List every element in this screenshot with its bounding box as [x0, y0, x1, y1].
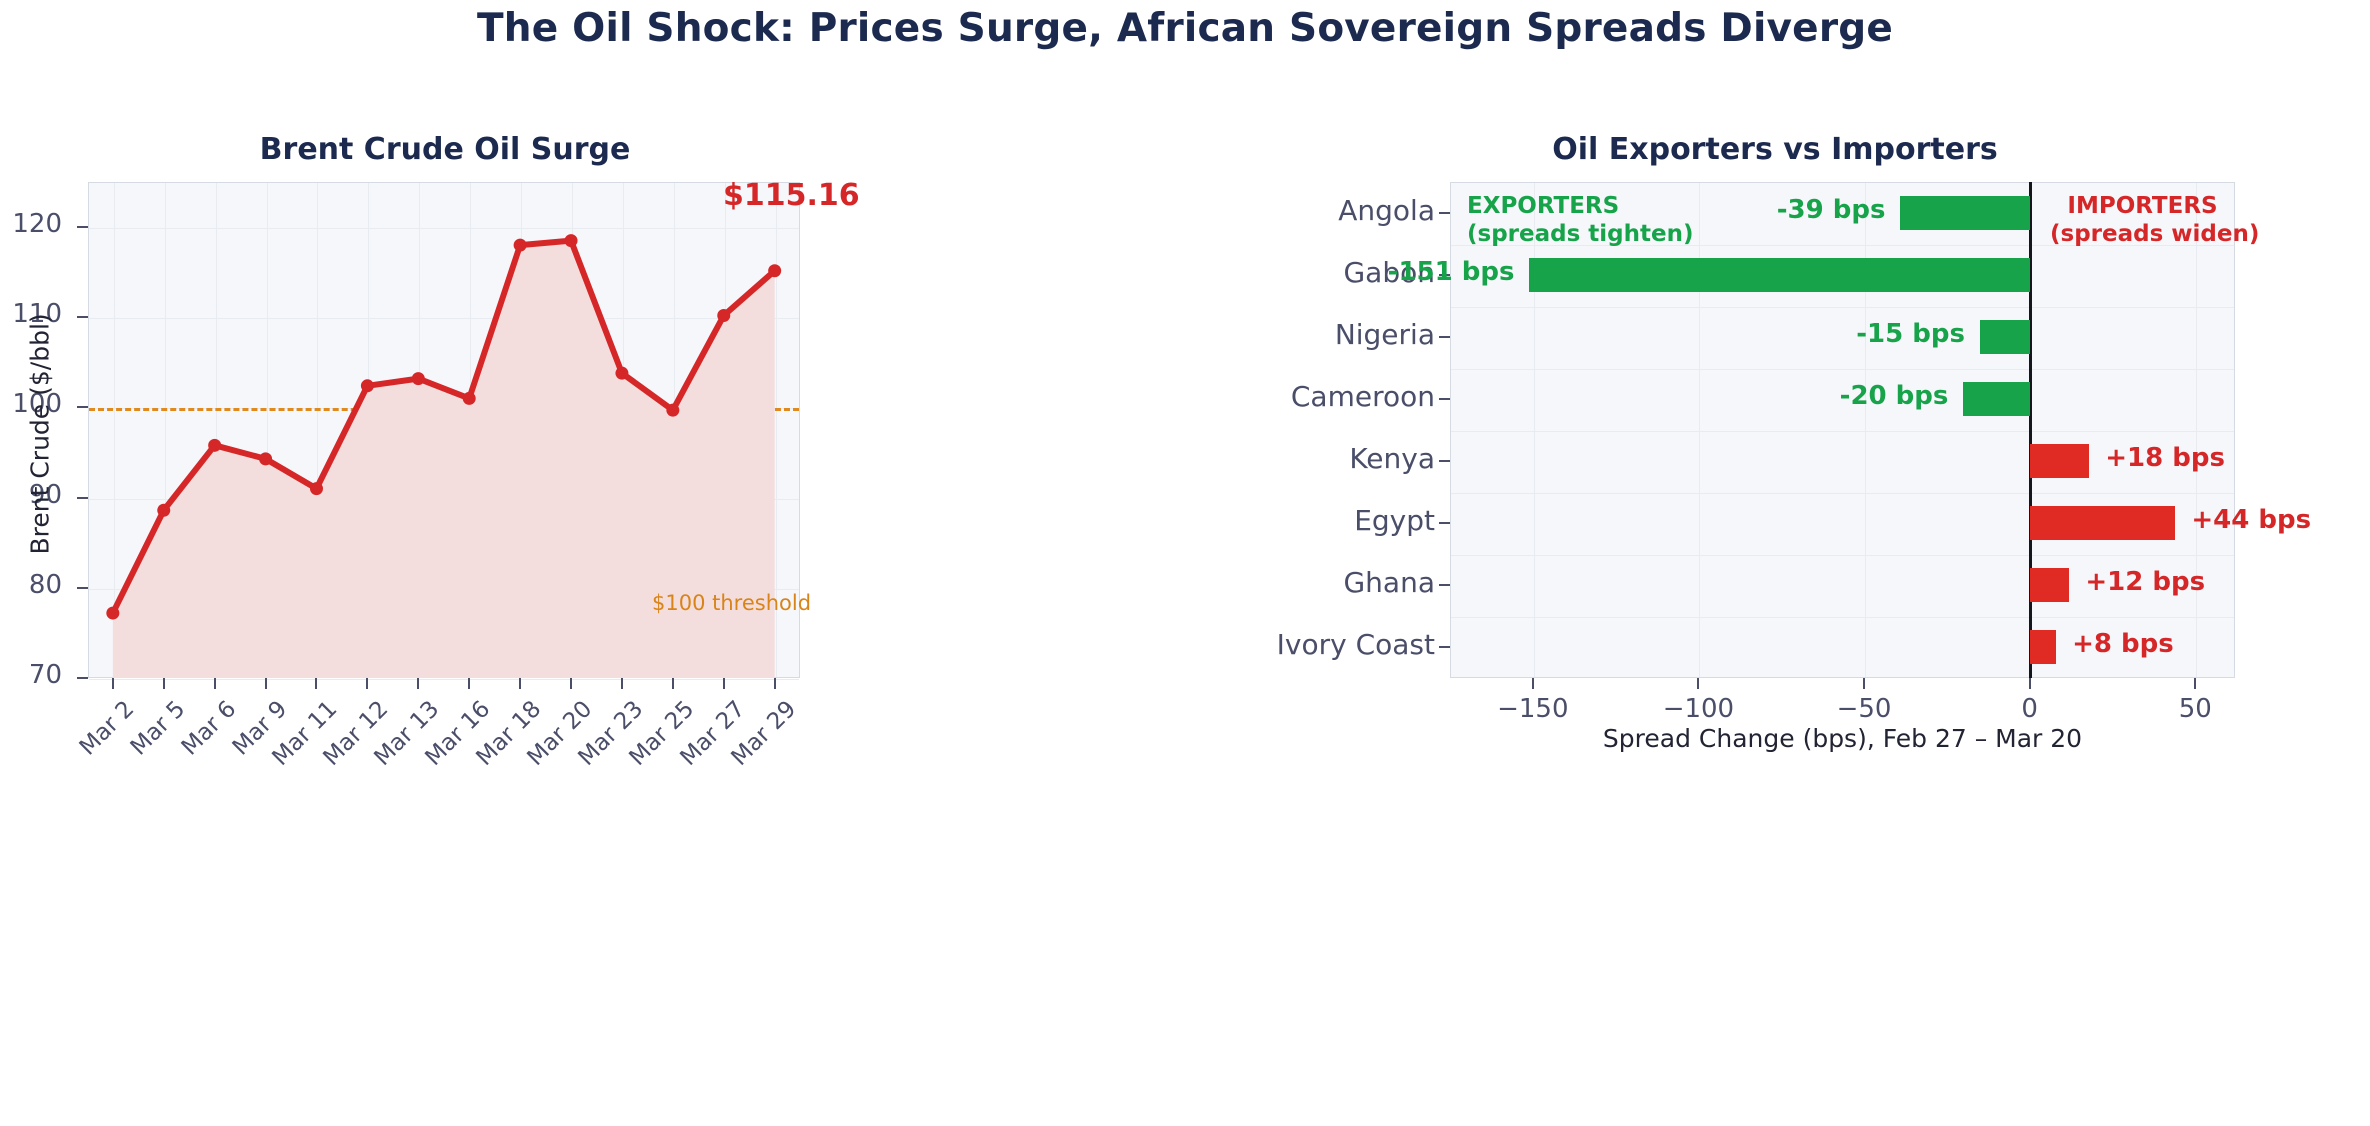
left-x-tick-mark	[265, 678, 267, 689]
left-y-tick-label: 120	[0, 209, 62, 239]
spread-value-label: -15 bps	[1750, 319, 1965, 349]
left-x-tick-mark	[672, 678, 674, 689]
left-gridline	[89, 679, 799, 680]
right-y-tick-mark	[1439, 584, 1450, 586]
exporters-annotation-line1: EXPORTERS	[1467, 192, 1694, 220]
importers-annotation-line2: (spreads widen)	[2050, 220, 2235, 248]
right-plot-area	[1450, 182, 2235, 678]
brent-data-point	[412, 372, 425, 385]
spread-value-label: +12 bps	[2085, 567, 2205, 597]
left-chart-title: Brent Crude Oil Surge	[90, 132, 800, 167]
left-x-tick-mark	[315, 678, 317, 689]
left-y-tick-mark	[77, 316, 88, 318]
brent-data-point	[666, 404, 679, 417]
country-label: Ghana	[1160, 566, 1435, 599]
spread-value-label: -20 bps	[1733, 381, 1948, 411]
left-y-tick-mark	[77, 677, 88, 679]
right-gridline-horizontal	[1451, 555, 2234, 556]
left-x-tick-mark	[214, 678, 216, 689]
left-x-tick-mark	[163, 678, 165, 689]
right-x-tick-label: 50	[2125, 694, 2265, 724]
brent-data-point	[259, 452, 272, 465]
spread-bar[interactable]	[2030, 630, 2056, 665]
spread-value-label: +44 bps	[2191, 505, 2311, 535]
spread-bar[interactable]	[2030, 506, 2176, 541]
country-label: Nigeria	[1160, 318, 1435, 351]
left-x-tick-mark	[621, 678, 623, 689]
right-y-tick-mark	[1439, 336, 1450, 338]
country-label: Egypt	[1160, 504, 1435, 537]
country-label: Cameroon	[1160, 380, 1435, 413]
spread-value-label: -151 bps	[1299, 257, 1514, 287]
spread-bar[interactable]	[2030, 568, 2070, 603]
brent-data-point	[106, 607, 119, 620]
country-label: Ivory Coast	[1160, 628, 1435, 661]
brent-data-point	[768, 264, 781, 277]
spread-bar[interactable]	[1900, 196, 2029, 231]
left-y-tick-mark	[77, 497, 88, 499]
left-y-tick-label: 80	[0, 570, 62, 600]
right-chart-title: Oil Exporters vs Importers	[1325, 132, 2225, 167]
right-gridline-horizontal	[1451, 431, 2234, 432]
right-x-tick-label: −50	[1794, 694, 1934, 724]
right-y-tick-mark	[1439, 212, 1450, 214]
left-y-tick-mark	[77, 587, 88, 589]
figure-canvas: The Oil Shock: Prices Surge, African Sov…	[0, 0, 2370, 1126]
right-y-tick-mark	[1439, 646, 1450, 648]
right-x-tick-mark	[2029, 678, 2031, 689]
spread-bar[interactable]	[1963, 382, 2029, 417]
spread-bar[interactable]	[1980, 320, 2030, 355]
brent-data-point	[310, 482, 323, 495]
importers-annotation: IMPORTERS (spreads widen)	[2050, 192, 2235, 248]
brent-data-point	[463, 392, 476, 405]
right-y-tick-mark	[1439, 398, 1450, 400]
importers-annotation-line1: IMPORTERS	[2050, 192, 2235, 220]
brent-data-point	[717, 309, 730, 322]
right-x-tick-label: −150	[1463, 694, 1603, 724]
spread-value-label: -39 bps	[1670, 195, 1885, 225]
right-y-tick-mark	[1439, 522, 1450, 524]
right-gridline-horizontal	[1451, 617, 2234, 618]
right-y-tick-mark	[1439, 460, 1450, 462]
left-x-tick-mark	[417, 678, 419, 689]
left-y-tick-label: 70	[0, 660, 62, 690]
right-x-tick-mark	[1532, 678, 1534, 689]
spread-bar[interactable]	[2030, 444, 2090, 479]
brent-data-point	[361, 379, 374, 392]
right-x-axis-label: Spread Change (bps), Feb 27 – Mar 20	[1450, 724, 2235, 753]
right-x-tick-mark	[1697, 678, 1699, 689]
brent-data-point	[208, 439, 221, 452]
exporters-annotation: EXPORTERS (spreads tighten)	[1467, 192, 1694, 248]
left-x-tick-mark	[468, 678, 470, 689]
left-x-tick-mark	[723, 678, 725, 689]
endpoint-annotation: $115.16	[723, 178, 860, 213]
brent-data-point	[157, 504, 170, 517]
left-x-tick-mark	[366, 678, 368, 689]
right-x-tick-mark	[2194, 678, 2196, 689]
left-chart-panel: Brent Crude Oil Surge 708090100110120Mar…	[0, 0, 1185, 1126]
left-x-tick-mark	[519, 678, 521, 689]
right-x-tick-label: −100	[1628, 694, 1768, 724]
right-gridline-horizontal	[1451, 493, 2234, 494]
brent-data-point	[615, 367, 628, 380]
zero-reference-line	[2029, 182, 2032, 678]
right-x-tick-mark	[1863, 678, 1865, 689]
spread-value-label: +18 bps	[2105, 443, 2225, 473]
right-gridline-horizontal	[1451, 369, 2234, 370]
left-y-axis-label: Brent Crude ($/bbl)	[26, 315, 55, 555]
exporters-annotation-line2: (spreads tighten)	[1467, 220, 1694, 248]
left-y-tick-mark	[77, 226, 88, 228]
right-gridline-horizontal	[1451, 307, 2234, 308]
right-chart-panel: Oil Exporters vs Importers −150−100−5005…	[1185, 0, 2370, 1126]
left-x-tick-mark	[570, 678, 572, 689]
country-label: Angola	[1160, 194, 1435, 227]
right-gridline	[2196, 183, 2197, 677]
brent-data-point	[514, 239, 527, 252]
spread-bar[interactable]	[1529, 258, 2029, 293]
brent-data-point	[565, 234, 578, 247]
left-x-tick-mark	[774, 678, 776, 689]
country-label: Kenya	[1160, 442, 1435, 475]
left-y-tick-mark	[77, 406, 88, 408]
left-x-tick-mark	[112, 678, 114, 689]
spread-value-label: +8 bps	[2072, 629, 2174, 659]
threshold-annotation: $100 threshold	[652, 591, 811, 615]
right-x-tick-label: 0	[1960, 694, 2100, 724]
